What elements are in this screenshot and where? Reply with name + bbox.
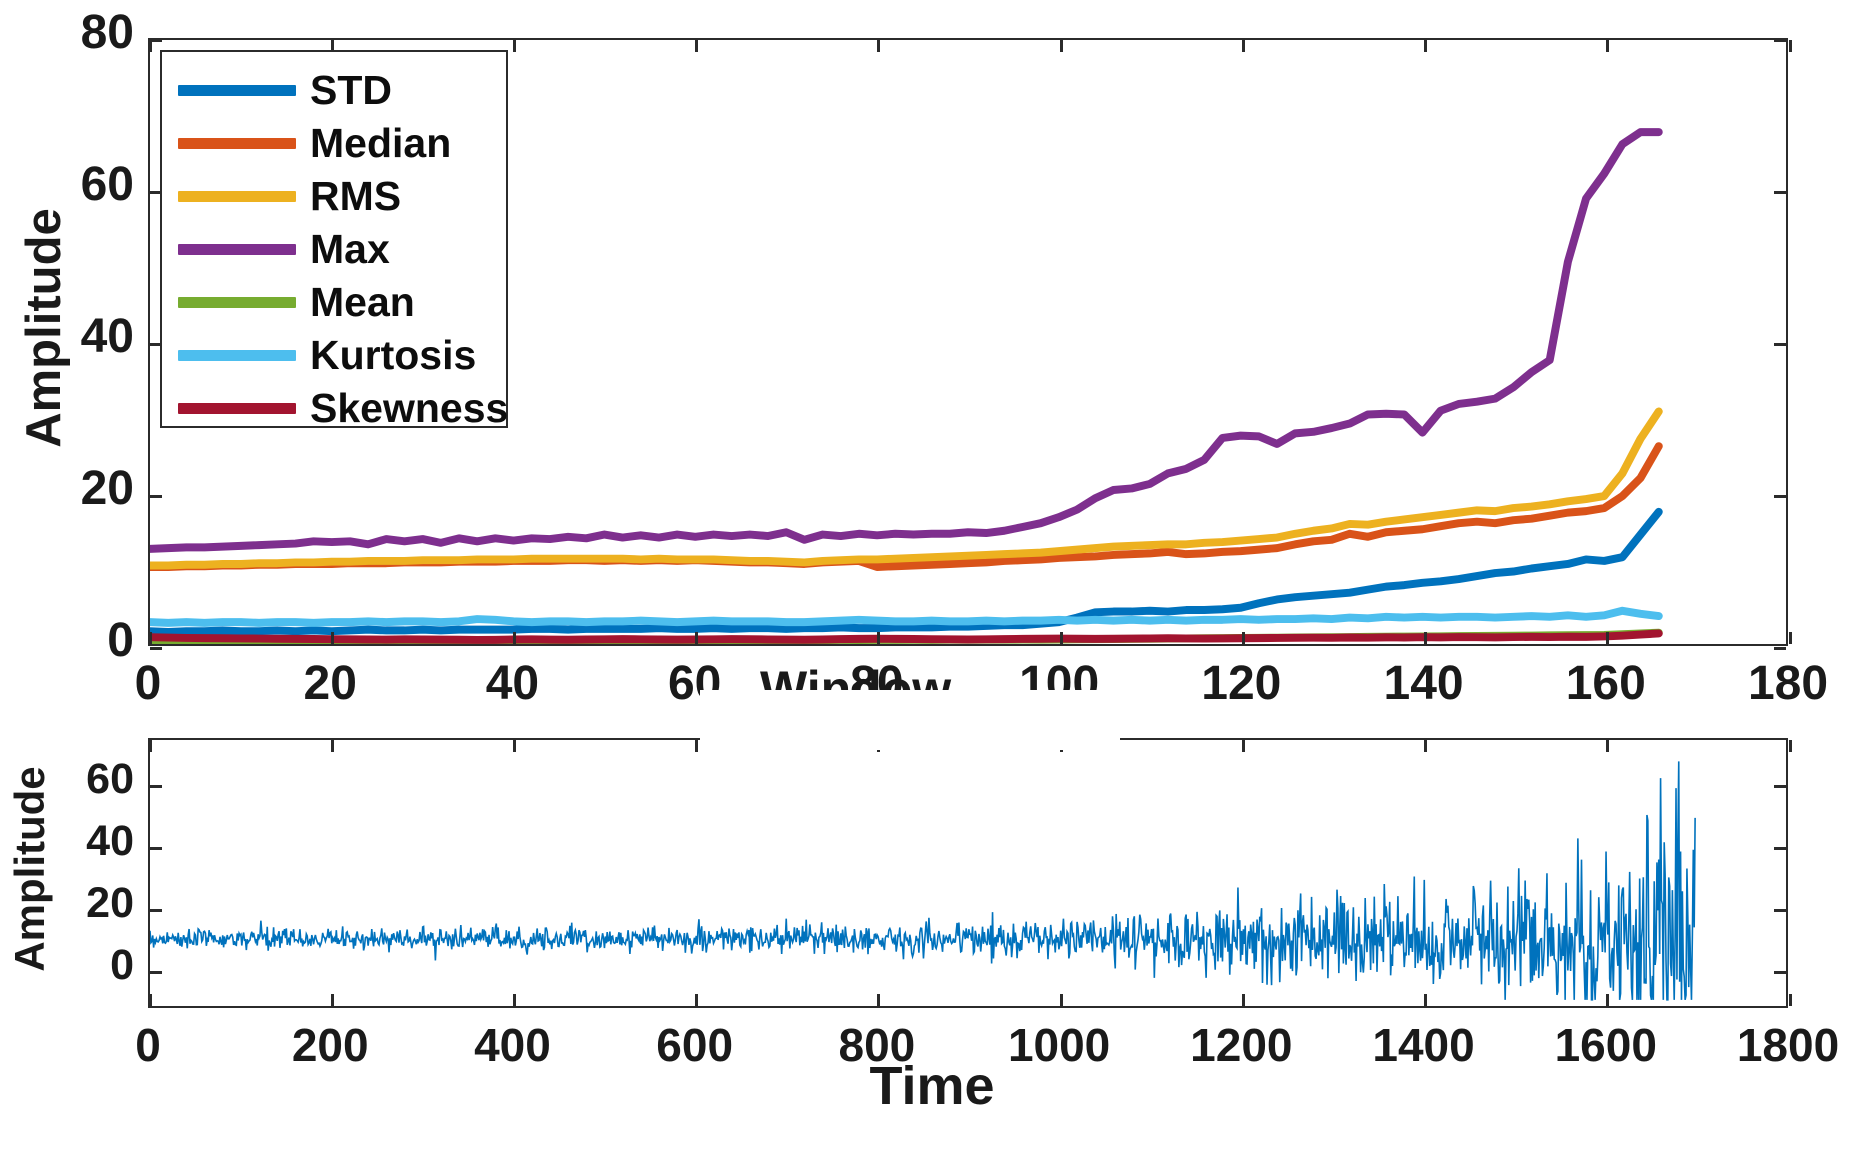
x-tick-mark — [1789, 994, 1792, 1006]
bottom-plot-axes — [148, 738, 1788, 1008]
x-tick-mark — [331, 740, 334, 752]
x-tick-mark — [695, 994, 698, 1006]
x-tick-mark — [695, 740, 698, 752]
legend-item-label: RMS — [310, 176, 401, 217]
legend-swatch-icon — [178, 297, 296, 308]
y-tick-mark — [1774, 647, 1786, 650]
legend-item-label: Max — [310, 229, 390, 270]
x-tick-mark — [1606, 740, 1609, 752]
x-tick-label: 180 — [1678, 656, 1864, 711]
x-tick-mark — [1060, 632, 1063, 644]
x-tick-mark — [1060, 40, 1063, 52]
y-tick-mark — [1774, 785, 1786, 788]
y-tick-mark — [1774, 39, 1786, 42]
y-tick-mark — [1774, 909, 1786, 912]
y-tick-mark — [150, 785, 162, 788]
x-tick-mark — [1789, 740, 1792, 752]
y-tick-mark — [150, 847, 162, 850]
y-tick-mark — [1774, 343, 1786, 346]
x-tick-mark — [1606, 632, 1609, 644]
y-tick-label: 0 — [0, 941, 134, 990]
legend-item-std[interactable]: STD — [162, 64, 506, 117]
x-tick-mark — [149, 632, 152, 644]
y-tick-label: 60 — [0, 157, 134, 212]
x-tick-mark — [1606, 994, 1609, 1006]
legend-item-rms[interactable]: RMS — [162, 170, 506, 223]
x-tick-mark — [1606, 40, 1609, 52]
x-tick-mark — [695, 632, 698, 644]
y-tick-mark — [150, 909, 162, 912]
y-tick-mark — [150, 39, 162, 42]
legend-swatch-icon — [178, 191, 296, 202]
series-line-signal — [150, 761, 1695, 999]
y-tick-label: 40 — [0, 309, 134, 364]
x-tick-mark — [1424, 740, 1427, 752]
x-tick-mark — [1424, 40, 1427, 52]
x-tick-mark — [331, 994, 334, 1006]
legend-item-skewness[interactable]: Skewness — [162, 382, 506, 435]
legend[interactable]: STDMedianRMSMaxMeanKurtosisSkewness — [160, 50, 508, 428]
legend-item-median[interactable]: Median — [162, 117, 506, 170]
y-tick-mark — [150, 495, 162, 498]
x-tick-mark — [1424, 994, 1427, 1006]
legend-item-label: Skewness — [310, 388, 508, 429]
x-tick-mark — [149, 40, 152, 52]
series-line-median — [150, 446, 1659, 567]
x-tick-mark — [1060, 994, 1063, 1006]
y-tick-mark — [1774, 495, 1786, 498]
y-tick-label: 60 — [0, 755, 134, 804]
legend-swatch-icon — [178, 85, 296, 96]
y-tick-label: 80 — [0, 5, 134, 60]
y-tick-mark — [1774, 971, 1786, 974]
legend-swatch-icon — [178, 244, 296, 255]
series-line-skewness — [150, 633, 1659, 639]
legend-item-label: Median — [310, 123, 451, 164]
y-tick-mark — [150, 971, 162, 974]
x-tick-mark — [1242, 632, 1245, 644]
x-tick-mark — [513, 632, 516, 644]
legend-item-kurtosis[interactable]: Kurtosis — [162, 329, 506, 382]
y-tick-mark — [150, 647, 162, 650]
series-line-kurtosis — [150, 611, 1659, 623]
raw-signal-chart — [150, 740, 1786, 1006]
x-tick-mark — [513, 994, 516, 1006]
x-tick-mark — [513, 40, 516, 52]
x-tick-mark — [877, 40, 880, 52]
x-tick-mark — [1242, 740, 1245, 752]
x-tick-mark — [1424, 632, 1427, 644]
x-tick-mark — [1789, 632, 1792, 644]
legend-item-label: Mean — [310, 282, 415, 323]
x-tick-mark — [1242, 994, 1245, 1006]
x-tick-mark — [513, 740, 516, 752]
legend-swatch-icon — [178, 403, 296, 414]
y-tick-label: 20 — [0, 461, 134, 516]
legend-item-label: Kurtosis — [310, 335, 476, 376]
legend-item-max[interactable]: Max — [162, 223, 506, 276]
bottom-x-axis-title: Time — [0, 1055, 1864, 1117]
legend-item-mean[interactable]: Mean — [162, 276, 506, 329]
x-tick-mark — [149, 740, 152, 752]
legend-item-label: STD — [310, 70, 392, 111]
legend-swatch-icon — [178, 138, 296, 149]
y-tick-mark — [1774, 191, 1786, 194]
x-tick-mark — [1242, 40, 1245, 52]
y-tick-label: 20 — [0, 879, 134, 928]
x-tick-mark — [149, 994, 152, 1006]
y-tick-label: 40 — [0, 817, 134, 866]
x-tick-mark — [877, 632, 880, 644]
x-tick-mark — [695, 40, 698, 52]
x-tick-mark — [1789, 40, 1792, 52]
window-label-occluder — [700, 690, 1120, 750]
x-tick-mark — [877, 994, 880, 1006]
x-tick-mark — [331, 632, 334, 644]
legend-swatch-icon — [178, 350, 296, 361]
figure-root: Amplitude 020406080 02040608010012014016… — [0, 0, 1864, 1149]
y-tick-mark — [1774, 847, 1786, 850]
